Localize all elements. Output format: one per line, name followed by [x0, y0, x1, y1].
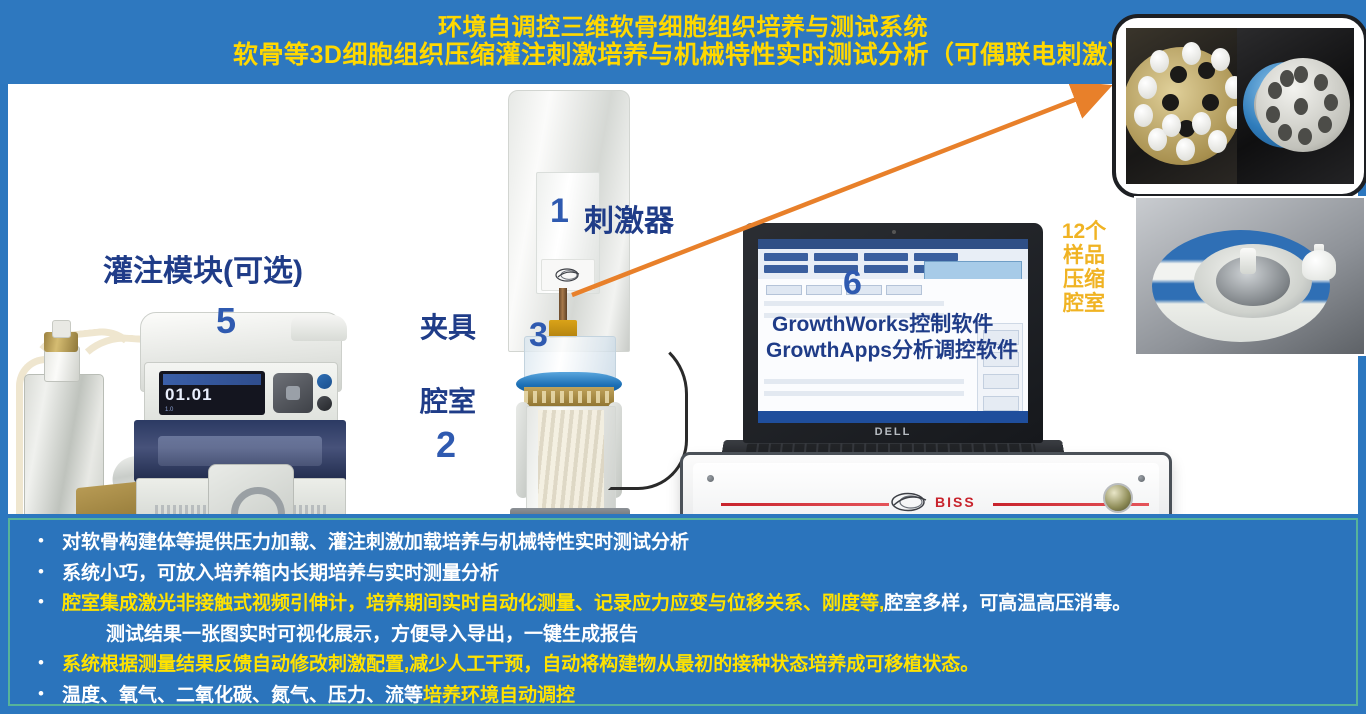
bullet-marker-icon: • — [28, 590, 62, 615]
sample-peg — [1208, 130, 1227, 153]
syringe-filter-cap — [1302, 250, 1336, 280]
label-perfusion-module: 灌注模块(可选) — [103, 246, 303, 290]
pump-dpad-icon[interactable] — [273, 373, 313, 413]
controller-biss-logo: BISS — [889, 489, 993, 514]
lcd-header-strip — [163, 374, 261, 385]
disc-well — [1294, 66, 1308, 83]
power-indicator-led — [1103, 483, 1133, 513]
workspace-button[interactable] — [806, 285, 842, 295]
panel-screw — [707, 475, 714, 482]
callout-number-5: 5 — [216, 300, 236, 342]
biss-swirl-icon — [889, 490, 931, 514]
bullet-text-segment: 测试结果一张图实时可视化展示，方便导入导出，一键生成报告 — [106, 624, 638, 645]
bullet-text: 对软骨构建体等提供压力加载、灌注刺激加载培养与机械特性实时测试分析 — [62, 529, 689, 558]
label-growthapps-software: GrowthApps分析调控软件 — [766, 334, 1018, 364]
photo-chamber-discs — [1237, 28, 1354, 184]
inset-photo-chamber-assembly — [1134, 196, 1366, 356]
callout-number-6: 6 — [843, 264, 862, 303]
disc-well — [1298, 128, 1312, 145]
sample-peg — [1150, 50, 1169, 73]
disc-well — [1266, 106, 1280, 123]
pump-roller-head — [208, 464, 294, 514]
bullet-text-segment: 对软骨构建体等提供压力加载、灌注刺激加载培养与机械特性实时测试分析 — [62, 532, 689, 553]
callout-number-3: 3 — [529, 316, 548, 355]
photo-12-well-plate — [1126, 28, 1237, 184]
brand-stripe-left — [721, 503, 889, 506]
panel-button[interactable] — [983, 396, 1019, 411]
bullet-text: 温度、氧气、二氧化碳、氮气、压力、流等培养环境自动调控 — [62, 682, 575, 711]
plate-hole — [1170, 66, 1187, 83]
feature-bullet-item: •系统根据测量结果反馈自动修改刺激配置,减少人工干预，自动将构建物从最初的接种状… — [10, 650, 1356, 681]
feature-bullet-item: •腔室集成激光非接触式视频引伸计，培养期间实时自动化测量、记录应力应变与位移关系… — [10, 589, 1356, 620]
feature-bullets-panel: •对软骨构建体等提供压力加载、灌注刺激加载培养与机械特性实时测试分析•系统小巧，… — [8, 518, 1358, 706]
disc-well — [1278, 124, 1292, 141]
chamber-outer-ring — [1152, 230, 1330, 342]
label-sample-chambers: 12个 样品 压缩 腔室 — [1052, 220, 1116, 316]
disc-well — [1314, 74, 1328, 91]
biss-swirl-icon — [553, 267, 583, 283]
bullet-marker-icon: • — [28, 651, 62, 676]
pump-fast-button[interactable] — [317, 396, 332, 411]
bottle-port — [52, 320, 71, 338]
callout-number-1: 1 — [550, 192, 569, 231]
software-toolbar — [758, 249, 1028, 279]
pump-handle — [291, 315, 347, 341]
disc-well — [1324, 94, 1338, 111]
white-well-disc — [1256, 58, 1350, 152]
hose-bundle — [538, 410, 604, 514]
poster-root: 环境自调控三维软骨细胞组织培养与测试系统 软骨等3D细胞组织压缩灌注刺激培养与机… — [0, 0, 1366, 714]
actuator-rod — [559, 288, 567, 320]
software-titlebar — [758, 239, 1028, 249]
title-line-2: 软骨等3D细胞组织压缩灌注刺激培养与机械特性实时测试分析（可偶联电刺激） — [233, 41, 1133, 70]
toolbar-chip[interactable] — [764, 265, 808, 273]
controller-front-panel: BISS — [693, 463, 1159, 514]
callout-number-2: 2 — [436, 424, 456, 466]
toolbar-chip[interactable] — [914, 253, 958, 261]
panel-button[interactable] — [983, 374, 1019, 389]
disc-well — [1294, 98, 1308, 115]
column-foot — [510, 508, 630, 514]
sample-peg — [1134, 104, 1153, 127]
peristaltic-pump: 01.01 1.0 — [134, 312, 346, 514]
pump-flow-value: 01.01 — [165, 385, 213, 405]
title-line-1: 环境自调控三维软骨细胞组织培养与测试系统 — [438, 14, 928, 41]
bullet-text-segment: 温度、氧气、二氧化碳、氮气、压力、流等 — [62, 685, 423, 706]
bullet-marker-icon: • — [28, 529, 62, 554]
chamber-center-post — [1240, 248, 1256, 274]
plate-hole — [1202, 94, 1219, 111]
disc-well — [1280, 70, 1294, 87]
label-cavity: 腔室 — [420, 380, 476, 420]
sample-peg — [1182, 42, 1201, 65]
sample-peg — [1192, 112, 1211, 135]
label-fixture: 夹具 — [420, 306, 476, 346]
disc-well — [1318, 116, 1332, 133]
inset-photo-sample-plates — [1112, 14, 1366, 198]
bullet-text-segment: 系统小巧，可放入培养箱内长期培养与实时测量分析 — [62, 563, 499, 584]
sample-peg — [1211, 48, 1230, 71]
bullet-text: 系统小巧，可放入培养箱内长期培养与实时测量分析 — [62, 560, 499, 589]
biss-badge — [541, 259, 595, 291]
toolbar-chip[interactable] — [864, 265, 908, 273]
laptop-brand-logo: DELL — [743, 426, 1043, 438]
bullet-text-segment: 系统根据测量结果反馈自动修改刺激配置,减少人工干预，自动将构建物从最初的接种状态… — [62, 654, 979, 675]
feature-bullet-item: •温度、氧气、二氧化碳、氮气、压力、流等培养环境自动调控 — [10, 681, 1356, 712]
sensor-cable — [608, 334, 688, 490]
chamber-inner-ring — [1194, 244, 1312, 318]
panel-screw — [1138, 475, 1145, 482]
feature-bullet-item: 测试结果一张图实时可视化展示，方便导入导出，一键生成报告 — [10, 620, 1356, 651]
pump-run-button[interactable] — [317, 374, 332, 389]
bullet-text-segment: 腔室多样，可高温高压消毒。 — [884, 593, 1131, 614]
sample-peg — [1162, 114, 1181, 137]
workspace-row — [764, 391, 964, 396]
bullet-marker-icon: • — [28, 560, 62, 585]
sample-peg — [1176, 138, 1195, 161]
feature-bullet-item: •对软骨构建体等提供压力加载、灌注刺激加载培养与机械特性实时测试分析 — [10, 528, 1356, 559]
toolbar-chip[interactable] — [764, 253, 808, 261]
pump-lcd-sub: 1.0 — [165, 407, 173, 413]
toolbar-chip[interactable] — [814, 253, 858, 261]
sample-peg — [1225, 76, 1237, 99]
label-stimulator: 刺激器 — [584, 196, 674, 240]
feature-bullet-item: •系统小巧，可放入培养箱内长期培养与实时测量分析 — [10, 559, 1356, 590]
disc-well — [1268, 82, 1282, 99]
bullet-marker-icon: • — [28, 682, 62, 707]
sample-peg — [1138, 76, 1157, 99]
bullet-text-segment: 培养环境自动调控 — [423, 685, 575, 706]
pump-lcd-display: 01.01 1.0 — [159, 371, 265, 415]
pump-control-panel: 01.01 1.0 — [144, 362, 338, 424]
bullet-text: 腔室集成激光非接触式视频引伸计，培养期间实时自动化测量、记录应力应变与位移关系、… — [62, 590, 1131, 619]
laptop-webcam-icon — [892, 230, 896, 234]
workspace-row — [764, 379, 964, 384]
workspace-button[interactable] — [766, 285, 802, 295]
bullet-text: 测试结果一张图实时可视化展示，方便导入导出，一键生成报告 — [62, 621, 638, 650]
bullet-text-segment: 腔室集成激光非接触式视频引伸计，培养期间实时自动化测量、记录应力应变与位移关系、… — [62, 593, 884, 614]
controller-unit: BISS — [680, 452, 1172, 514]
biss-wordmark: BISS — [935, 494, 976, 510]
toolbar-chip[interactable] — [864, 253, 908, 261]
plate-hole — [1162, 94, 1179, 111]
bullet-text: 系统根据测量结果反馈自动修改刺激配置,减少人工干预，自动将构建物从最初的接种状态… — [62, 651, 979, 680]
workspace-button[interactable] — [886, 285, 922, 295]
software-statusbar — [758, 411, 1028, 423]
